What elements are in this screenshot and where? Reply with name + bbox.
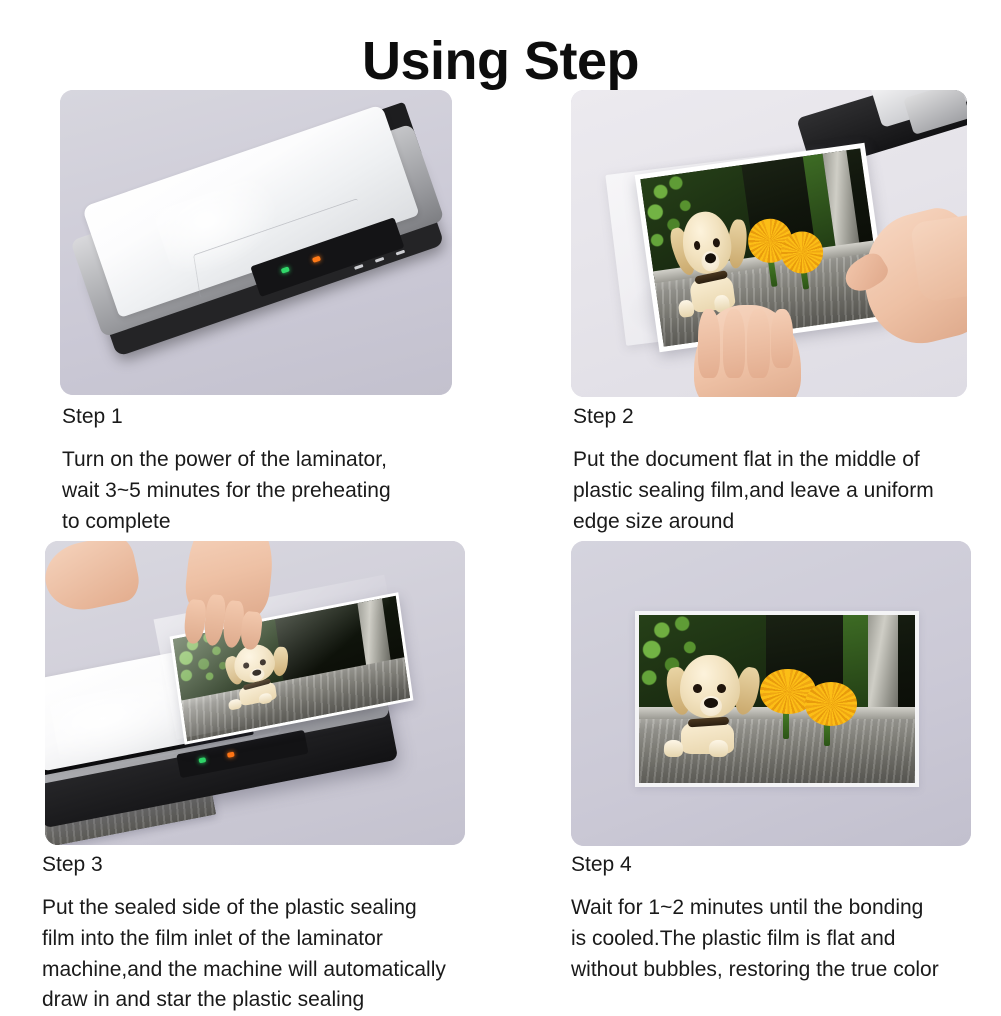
step-4-label: Step 4 xyxy=(571,852,991,877)
puppy-figure xyxy=(669,655,755,756)
step-card-1: Step 1 Turn on the power of the laminato… xyxy=(40,86,495,531)
step-1-text: Turn on the power of the laminator, wait… xyxy=(62,445,495,537)
puppy-figure xyxy=(670,206,752,316)
power-led-green-icon xyxy=(199,757,207,763)
step-4-caption: Step 4 Wait for 1~2 minutes until the bo… xyxy=(571,852,991,985)
step-4-text: Wait for 1~2 minutes until the bonding i… xyxy=(571,893,991,985)
step-2-text: Put the document flat in the middle of p… xyxy=(573,445,991,537)
step-card-3: Step 3 Put the sealed side of the plasti… xyxy=(22,536,495,1001)
puppy-figure xyxy=(225,639,291,710)
steps-grid: Step 1 Turn on the power of the laminato… xyxy=(0,0,1001,1001)
left-hand xyxy=(694,305,801,397)
step-1-image xyxy=(60,90,452,395)
step-3-image xyxy=(45,541,465,845)
power-led-green-icon xyxy=(280,266,289,273)
ready-led-orange-icon xyxy=(227,752,235,758)
step-4-image xyxy=(571,541,971,846)
step-card-4: Step 4 Wait for 1~2 minutes until the bo… xyxy=(551,536,991,1001)
puppy-sunflower-photo-content xyxy=(639,615,915,783)
step-2-label: Step 2 xyxy=(573,404,991,429)
step-2-caption: Step 2 Put the document flat in the midd… xyxy=(573,404,991,537)
step-3-label: Step 3 xyxy=(42,852,495,877)
step-3-text: Put the sealed side of the plastic seali… xyxy=(42,893,495,1016)
laminated-photo-result xyxy=(635,611,919,787)
step-1-caption: Step 1 Turn on the power of the laminato… xyxy=(62,404,495,537)
step-2-image xyxy=(571,90,967,397)
step-1-label: Step 1 xyxy=(62,404,495,429)
ready-led-orange-icon xyxy=(311,255,320,262)
step-3-caption: Step 3 Put the sealed side of the plasti… xyxy=(42,852,495,1016)
step-card-2: Step 2 Put the document flat in the midd… xyxy=(551,86,991,531)
sunflower-icon xyxy=(805,682,857,726)
